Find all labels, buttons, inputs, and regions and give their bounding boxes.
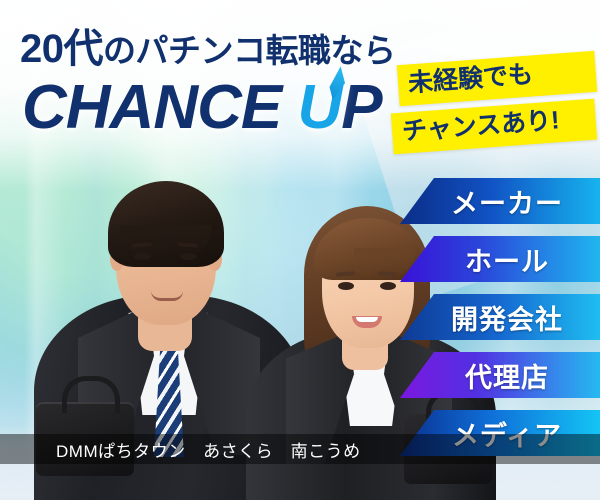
logo-u-letter: U <box>297 72 341 143</box>
caption-bar: DMMぱちタウン あさくら 南こうめ <box>0 434 600 464</box>
headline-text: 20代のパチンコ転職なら <box>20 16 396 74</box>
headline-rest: のパチンコ転職なら <box>103 32 396 69</box>
category-button-development-company[interactable]: 開発会社 <box>400 294 600 340</box>
promo-badge-line-1: 未経験でも <box>397 51 597 106</box>
category-list: メーカー ホール 開発会社 代理店 メディア <box>400 178 600 468</box>
promo-badge: 未経験でも チャンスあり! <box>396 58 596 147</box>
man-mouth <box>151 291 183 301</box>
logo-p: P <box>341 73 381 142</box>
logo-chance: CHANCE <box>22 73 297 142</box>
category-label-development-company: 開発会社 <box>437 298 563 337</box>
category-label-agency: 代理店 <box>451 356 549 395</box>
caption-text: DMMぱちタウン あさくら 南こうめ <box>56 437 361 462</box>
promo-badge-line-2: チャンスあり! <box>391 99 597 155</box>
man-hair <box>108 181 224 267</box>
category-button-hall[interactable]: ホール <box>400 236 600 282</box>
category-label-maker: メーカー <box>437 182 563 221</box>
ad-banner[interactable]: 20代のパチンコ転職なら CHANCE UP 未経験でも チャンスあり! メーカ… <box>0 0 600 500</box>
headline-age: 20代 <box>20 27 103 71</box>
category-label-hall: ホール <box>451 240 549 279</box>
woman-eye-left <box>338 282 354 290</box>
logo-chance-up: CHANCE UP <box>22 72 382 143</box>
man-eye-right <box>180 253 197 260</box>
man-eye-left <box>134 253 151 260</box>
woman-eye-right <box>380 282 396 290</box>
category-button-agency[interactable]: 代理店 <box>400 352 600 398</box>
category-button-maker[interactable]: メーカー <box>400 178 600 224</box>
